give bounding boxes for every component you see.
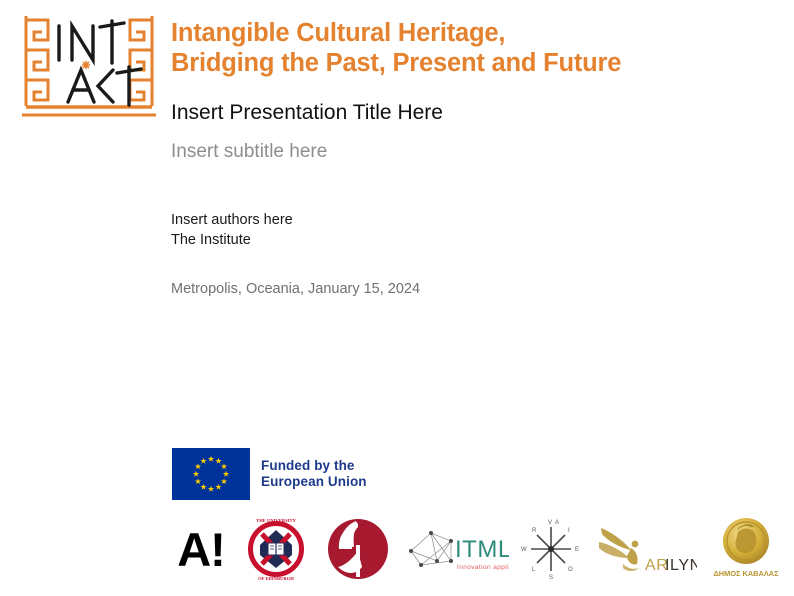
meander-border-right [130, 16, 152, 106]
svg-text:L: L [532, 567, 536, 573]
svg-text:R: R [532, 528, 537, 534]
itml-wordmark: ITML [455, 536, 509, 563]
venue-date[interactable]: Metropolis, Oceania, January 15, 2024 [171, 280, 420, 299]
project-title-line-1: Intangible Cultural Heritage, [171, 18, 771, 48]
arilyn-wordmark-part2: ILYN [665, 557, 697, 574]
presentation-slide: Intangible Cultural Heritage, Bridging t… [0, 0, 794, 596]
svg-text:I: I [568, 528, 570, 534]
meander-border-bottom [22, 107, 156, 115]
presentation-title[interactable]: Insert Presentation Title Here [171, 100, 443, 126]
intact-logo [18, 10, 160, 122]
itml-network-graph [411, 533, 451, 565]
svg-text:E: E [575, 547, 579, 553]
partner-logo-edinburgh: THE UNIVERSITY OF EDINBURGH [241, 513, 311, 585]
partner-logo-uwm [320, 513, 396, 585]
eu-funding-text-line-2: European Union [261, 474, 367, 490]
partner-logo-aalto: A! [170, 513, 232, 585]
authors-block[interactable]: Insert authors here The Institute [171, 211, 293, 250]
project-title: Intangible Cultural Heritage, Bridging t… [171, 18, 771, 78]
partner-logo-kavala: ΔΗΜΟΣ ΚΑΒΑΛΑΣ [707, 513, 785, 585]
arilyn-fairy-icon [599, 528, 639, 571]
edinburgh-ring-text-top: THE UNIVERSITY [256, 518, 296, 523]
svg-text:O: O [568, 567, 573, 573]
partner-logo-strip: A! THE UNIVERSITY OF EDINBURGH [170, 511, 785, 587]
compass-center [548, 546, 554, 552]
svg-text:W: W [521, 547, 527, 553]
european-union-flag-icon [172, 448, 250, 500]
edinburgh-crest [260, 530, 292, 568]
aalto-wordmark: A! [177, 526, 225, 573]
svg-text:S: S [549, 575, 553, 581]
eu-funding-badge: Funded by the European Union [172, 448, 367, 500]
meander-border-left [26, 16, 48, 106]
partner-logo-itml: ITML Innovation applied [405, 513, 510, 585]
edinburgh-ring-text-bottom: OF EDINBURGH [258, 576, 294, 581]
institute-line: The Institute [171, 231, 293, 251]
partner-logo-compass: V A R I W E L O S [519, 513, 583, 585]
partner-logo-arilyn: AR ILYN [592, 513, 698, 585]
kavala-caption: ΔΗΜΟΣ ΚΑΒΑΛΑΣ [713, 569, 779, 578]
presentation-subtitle[interactable]: Insert subtitle here [171, 140, 327, 164]
eu-funding-text-line-1: Funded by the [261, 458, 367, 474]
authors-line: Insert authors here [171, 211, 293, 231]
svg-text:A: A [555, 520, 559, 526]
eu-funding-text: Funded by the European Union [261, 458, 367, 490]
project-title-line-2: Bridging the Past, Present and Future [171, 48, 771, 78]
svg-text:V: V [548, 520, 552, 526]
itml-tagline: Innovation applied [457, 564, 509, 571]
star-mark [82, 61, 90, 69]
